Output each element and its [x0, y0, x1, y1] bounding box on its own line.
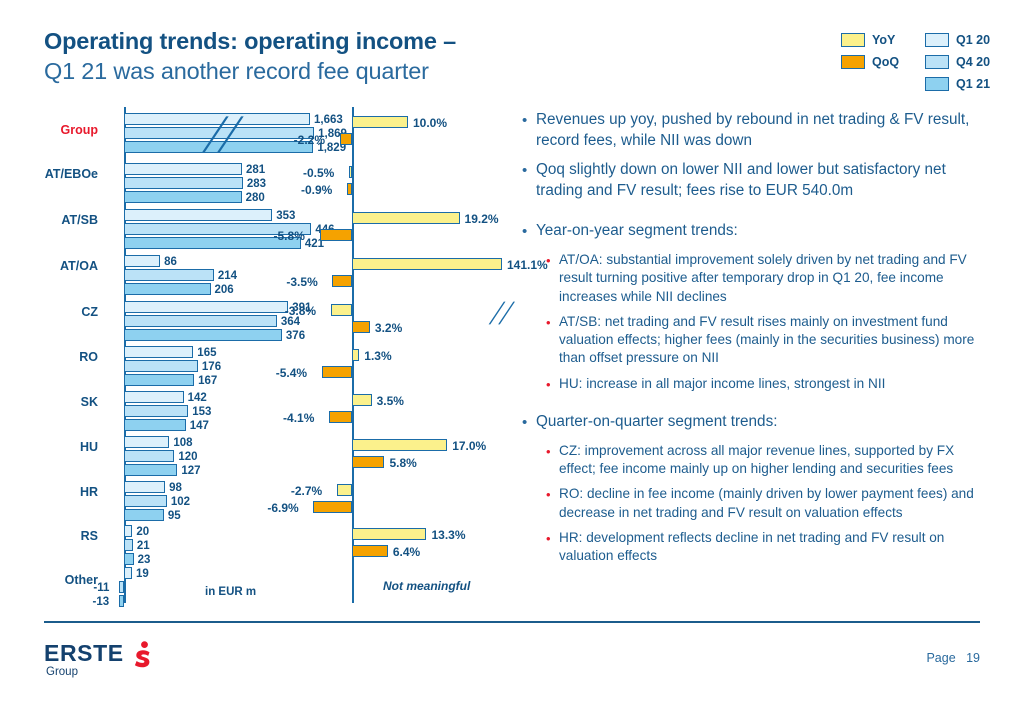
commentary-sub-bullet: •AT/SB: net trading and FV result rises …: [546, 313, 987, 368]
yoy-bar-label: 13.3%: [431, 529, 465, 541]
page-title: Operating trends: operating income – Q1 …: [44, 26, 564, 87]
commentary-text: Year-on-year segment trends:: [536, 221, 738, 242]
commentary-bullet: •Qoq slightly down on lower NII and lowe…: [522, 160, 987, 201]
yoy-bar-label: 3.5%: [377, 395, 404, 407]
commentary-bullet: •Quarter-on-quarter segment trends:: [522, 412, 987, 433]
chart-category-label: HU: [12, 440, 98, 454]
bullet-dot-icon: •: [546, 251, 559, 306]
commentary-text: AT/SB: net trading and FV result rises m…: [559, 313, 987, 368]
commentary-sub-bullet: •HR: development reflects decline in net…: [546, 529, 987, 566]
commentary-sub-bullet: •AT/OA: substantial improvement solely d…: [546, 251, 987, 306]
commentary-text: Revenues up yoy, pushed by rebound in ne…: [536, 110, 987, 151]
qoq-bar-label: 5.8%: [389, 457, 416, 469]
value-bar: [124, 450, 174, 462]
qoq-bar-label: -2.2%: [294, 134, 325, 146]
slide: Operating trends: operating income – Q1 …: [0, 0, 1024, 709]
value-bar-label: 214: [218, 270, 237, 282]
value-bar: [124, 419, 186, 431]
qoq-bar: [332, 275, 352, 287]
value-bar-label: 86: [164, 256, 177, 268]
yoy-bar-label: 19.2%: [465, 213, 499, 225]
value-bar-label: 281: [246, 164, 265, 176]
yoy-bar: [352, 394, 372, 406]
legend-swatch-yoy-icon: [841, 33, 865, 47]
commentary-text: HU: increase in all major income lines, …: [559, 375, 885, 394]
qoq-bar: [347, 183, 352, 195]
chart-category-label: AT/SB: [12, 213, 98, 227]
value-bar-label: 142: [188, 392, 207, 404]
bullet-dot-icon: •: [546, 313, 559, 368]
value-bar: [124, 329, 282, 341]
value-bar-label: 376: [286, 330, 305, 342]
yoy-bar: [352, 528, 426, 540]
value-bar: [124, 269, 214, 281]
value-bar: [124, 346, 193, 358]
bullet-dot-icon: •: [522, 221, 536, 242]
legend-swatch-q120-icon: [925, 33, 949, 47]
page-number-value: 19: [966, 651, 980, 665]
value-bar-label: 176: [202, 361, 221, 373]
yoy-bar: [349, 166, 352, 178]
commentary-sub-bullet: •HU: increase in all major income lines,…: [546, 375, 987, 394]
value-bar-label: 95: [168, 510, 181, 522]
commentary-text: RO: decline in fee income (mainly driven…: [559, 485, 987, 522]
commentary-sub-bullet: •RO: decline in fee income (mainly drive…: [546, 485, 987, 522]
chart-category-label: Other: [12, 573, 98, 587]
qoq-bar-label: -5.8%: [274, 230, 305, 242]
page-number: Page 19: [926, 651, 980, 665]
qoq-bar: [352, 456, 384, 468]
bullet-dot-icon: •: [546, 375, 559, 394]
commentary-text: Qoq slightly down on lower NII and lower…: [536, 160, 987, 201]
legend-label-q420: Q4 20: [956, 55, 990, 69]
yoy-bar-label: 17.0%: [452, 440, 486, 452]
commentary-text: Quarter-on-quarter segment trends:: [536, 412, 777, 433]
value-bar: [124, 163, 242, 175]
legend-item-q121: Q1 21: [925, 74, 990, 94]
value-bar: [124, 405, 188, 417]
value-bar-label: 165: [197, 347, 216, 359]
chart-category-label: AT/OA: [12, 259, 98, 273]
qoq-bar-label: -0.9%: [301, 184, 332, 196]
logo-subtitle: Group: [46, 666, 78, 678]
bullet-dot-icon: •: [546, 485, 559, 522]
qoq-bar: [340, 133, 352, 145]
qoq-bar-label: -5.4%: [276, 367, 307, 379]
commentary-text: AT/OA: substantial improvement solely dr…: [559, 251, 987, 306]
logo-wordmark: ERSTE: [44, 641, 124, 665]
commentary-text: HR: development reflects decline in net …: [559, 529, 987, 566]
value-bar-label: 19: [136, 568, 149, 580]
commentary-bullet: •Year-on-year segment trends:: [522, 221, 987, 242]
value-bar: [119, 581, 124, 593]
title-line-1: Operating trends: operating income –: [44, 26, 564, 56]
legend-swatch-q121-icon: [925, 77, 949, 91]
bullet-dot-icon: •: [546, 529, 559, 566]
value-bar: [124, 436, 169, 448]
value-bar: [124, 525, 132, 537]
chart-category-label: SK: [12, 395, 98, 409]
commentary-gap: [522, 401, 987, 412]
yoy-bar-label: -2.7%: [291, 485, 322, 497]
value-bar-label: 127: [181, 465, 200, 477]
legend-column-growth: YoY QoQ: [841, 30, 899, 74]
yoy-bar-label: -0.5%: [303, 167, 334, 179]
yoy-bar: [337, 484, 352, 496]
value-bar-label: -13: [93, 596, 110, 608]
value-bar-label: 283: [247, 178, 266, 190]
legend-label-q120: Q1 20: [956, 33, 990, 47]
commentary-text: CZ: improvement across all major revenue…: [559, 442, 987, 479]
value-bar: [124, 553, 134, 565]
legend-label-q121: Q1 21: [956, 77, 990, 91]
value-bar: [124, 567, 132, 579]
yoy-bar-label: 1.3%: [364, 350, 391, 362]
legend-label-yoy: YoY: [872, 33, 895, 47]
legend-item-yoy: YoY: [841, 30, 899, 50]
qoq-bar-label: -6.9%: [267, 502, 298, 514]
legend-swatch-qoq-icon: [841, 55, 865, 69]
legend-item-qoq: QoQ: [841, 52, 899, 72]
legend-label-qoq: QoQ: [872, 55, 899, 69]
legend-item-q420: Q4 20: [925, 52, 990, 72]
legend-item-q120: Q1 20: [925, 30, 990, 50]
value-bar-label: 98: [169, 482, 182, 494]
value-bar-label: 206: [215, 284, 234, 296]
value-bar: [124, 464, 177, 476]
page-number-label: Page: [926, 651, 955, 665]
qoq-bar: [313, 501, 352, 513]
operating-income-chart: 1,6631,8691,82910.0%-2.2%281283280-0.5%-…: [0, 105, 505, 610]
value-bar-label: 280: [246, 192, 265, 204]
value-bar: [124, 191, 242, 203]
yoy-bar-label: 10.0%: [413, 117, 447, 129]
value-bar: [124, 509, 164, 521]
yoy-bar: [352, 439, 447, 451]
value-bar-label: 23: [138, 554, 151, 566]
bullet-dot-icon: •: [546, 442, 559, 479]
erste-s-icon: [131, 641, 153, 671]
unit-label: in EUR m: [205, 586, 256, 598]
value-bar: [124, 360, 198, 372]
value-bar-label: 353: [276, 210, 295, 222]
value-bar: [124, 177, 243, 189]
qoq-bar-label: -4.1%: [283, 412, 314, 424]
chart-category-label: RO: [12, 350, 98, 364]
value-bar: [124, 209, 272, 221]
value-bar-label: 167: [198, 375, 217, 387]
legend-column-periods: Q1 20 Q4 20 Q1 21: [925, 30, 990, 96]
axis-break-icon: //: [486, 297, 516, 331]
footer-divider: [44, 621, 980, 623]
not-meaningful-label: Not meaningful: [383, 579, 470, 593]
value-bar: [124, 255, 160, 267]
value-bar: [124, 539, 133, 551]
value-bar: [124, 374, 194, 386]
qoq-bar-label: 6.4%: [393, 546, 420, 558]
yoy-bar-label: -3.8%: [285, 305, 316, 317]
value-bar-label: 153: [192, 406, 211, 418]
value-bar-label: 102: [171, 496, 190, 508]
value-bar: [124, 391, 184, 403]
yoy-bar: [331, 304, 352, 316]
qoq-bar: [320, 229, 352, 241]
chart-category-label: CZ: [12, 305, 98, 319]
title-line-2: Q1 21 was another record fee quarter: [44, 56, 564, 87]
yoy-bar: [352, 116, 408, 128]
value-bar-label: 1,663: [314, 114, 343, 126]
yoy-bar: [352, 258, 502, 270]
yoy-bar: [352, 349, 359, 361]
value-bar: [124, 301, 288, 313]
chart-category-label: AT/EBOe: [12, 167, 98, 181]
qoq-bar: [352, 321, 370, 333]
chart-category-label: RS: [12, 529, 98, 543]
commentary-list: •Revenues up yoy, pushed by rebound in n…: [522, 110, 987, 573]
value-bar-label: 20: [136, 526, 149, 538]
value-bar: [124, 495, 167, 507]
qoq-bar-label: -3.5%: [286, 276, 317, 288]
value-bar: [124, 481, 165, 493]
value-bar-label: 120: [178, 451, 197, 463]
chart-category-label: Group: [12, 123, 98, 137]
bullet-dot-icon: •: [522, 110, 536, 151]
value-bar-label: 108: [173, 437, 192, 449]
value-bar-label: 21: [137, 540, 150, 552]
bullet-dot-icon: •: [522, 412, 536, 433]
bullet-dot-icon: •: [522, 160, 536, 201]
yoy-bar: [352, 212, 460, 224]
value-bar: [124, 283, 211, 295]
qoq-bar: [352, 545, 388, 557]
chart-category-label: HR: [12, 485, 98, 499]
value-bar-label: 147: [190, 420, 209, 432]
commentary-sub-bullet: •CZ: improvement across all major revenu…: [546, 442, 987, 479]
value-bar: [124, 315, 277, 327]
qoq-bar-label: 3.2%: [375, 322, 402, 334]
value-bar: [119, 595, 124, 607]
qoq-bar: [322, 366, 352, 378]
commentary-gap: [522, 210, 987, 221]
legend-swatch-q420-icon: [925, 55, 949, 69]
commentary-bullet: •Revenues up yoy, pushed by rebound in n…: [522, 110, 987, 151]
qoq-bar: [329, 411, 352, 423]
